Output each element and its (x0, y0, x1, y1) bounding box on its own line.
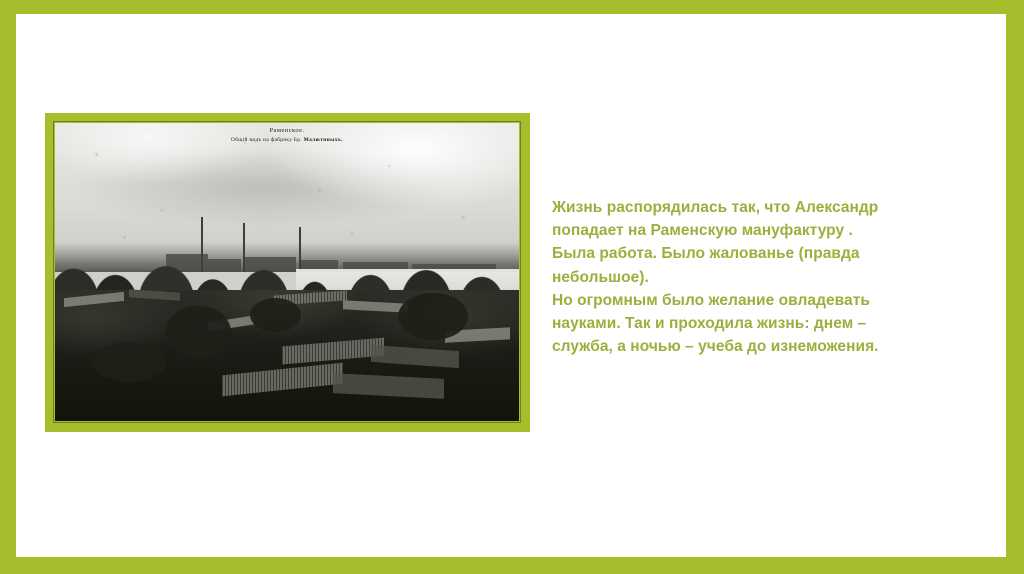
foreground-bush (398, 293, 468, 340)
frame-border-top (0, 0, 1024, 14)
photo-village-foreground (55, 290, 519, 421)
village-roof (282, 338, 384, 365)
village-roof (333, 374, 444, 399)
body-text-line: Была работа. Было жалованье (правда (552, 242, 946, 265)
village-roof (64, 292, 124, 308)
photo-frame: Раменское. Общій видъ на фабрику Бр. Мал… (45, 113, 530, 432)
body-text-line: Жизнь распорядилась так, что Александр (552, 196, 946, 219)
village-roof (371, 344, 459, 367)
postcard-caption-subtitle-prefix: Общій видъ на фабрику Бр. (231, 137, 304, 143)
body-text-line: попадает на Раменскую мануфактуру . (552, 219, 946, 242)
frame-border-right (1006, 0, 1024, 574)
body-text-block: Жизнь распорядилась так, что Александр п… (552, 196, 946, 358)
postcard-caption-subtitle: Общій видъ на фабрику Бр. Малютиныхъ. (55, 137, 519, 144)
frame-border-left (0, 0, 16, 574)
postcard-caption: Раменское. Общій видъ на фабрику Бр. Мал… (55, 127, 519, 144)
foreground-bush (250, 298, 301, 332)
foreground-bush (166, 306, 231, 358)
slide-canvas: Раменское. Общій видъ на фабрику Бр. Мал… (0, 0, 1024, 574)
postcard-caption-title: Раменское. (55, 127, 519, 136)
village-roof (222, 362, 343, 396)
foreground-bush (92, 342, 166, 381)
village-roof (129, 289, 180, 300)
postcard-caption-subtitle-bold: Малютиныхъ. (304, 137, 343, 143)
body-text-line: служба, а ночью – учеба до изнеможения. (552, 335, 946, 358)
frame-border-bottom (0, 557, 1024, 574)
body-text-line: Но огромным было желание овладевать (552, 289, 946, 312)
body-text-line: науками. Так и проходила жизнь: днем – (552, 312, 946, 335)
body-text-line: небольшое). (552, 266, 946, 289)
historical-photo: Раменское. Общій видъ на фабрику Бр. Мал… (55, 123, 519, 421)
